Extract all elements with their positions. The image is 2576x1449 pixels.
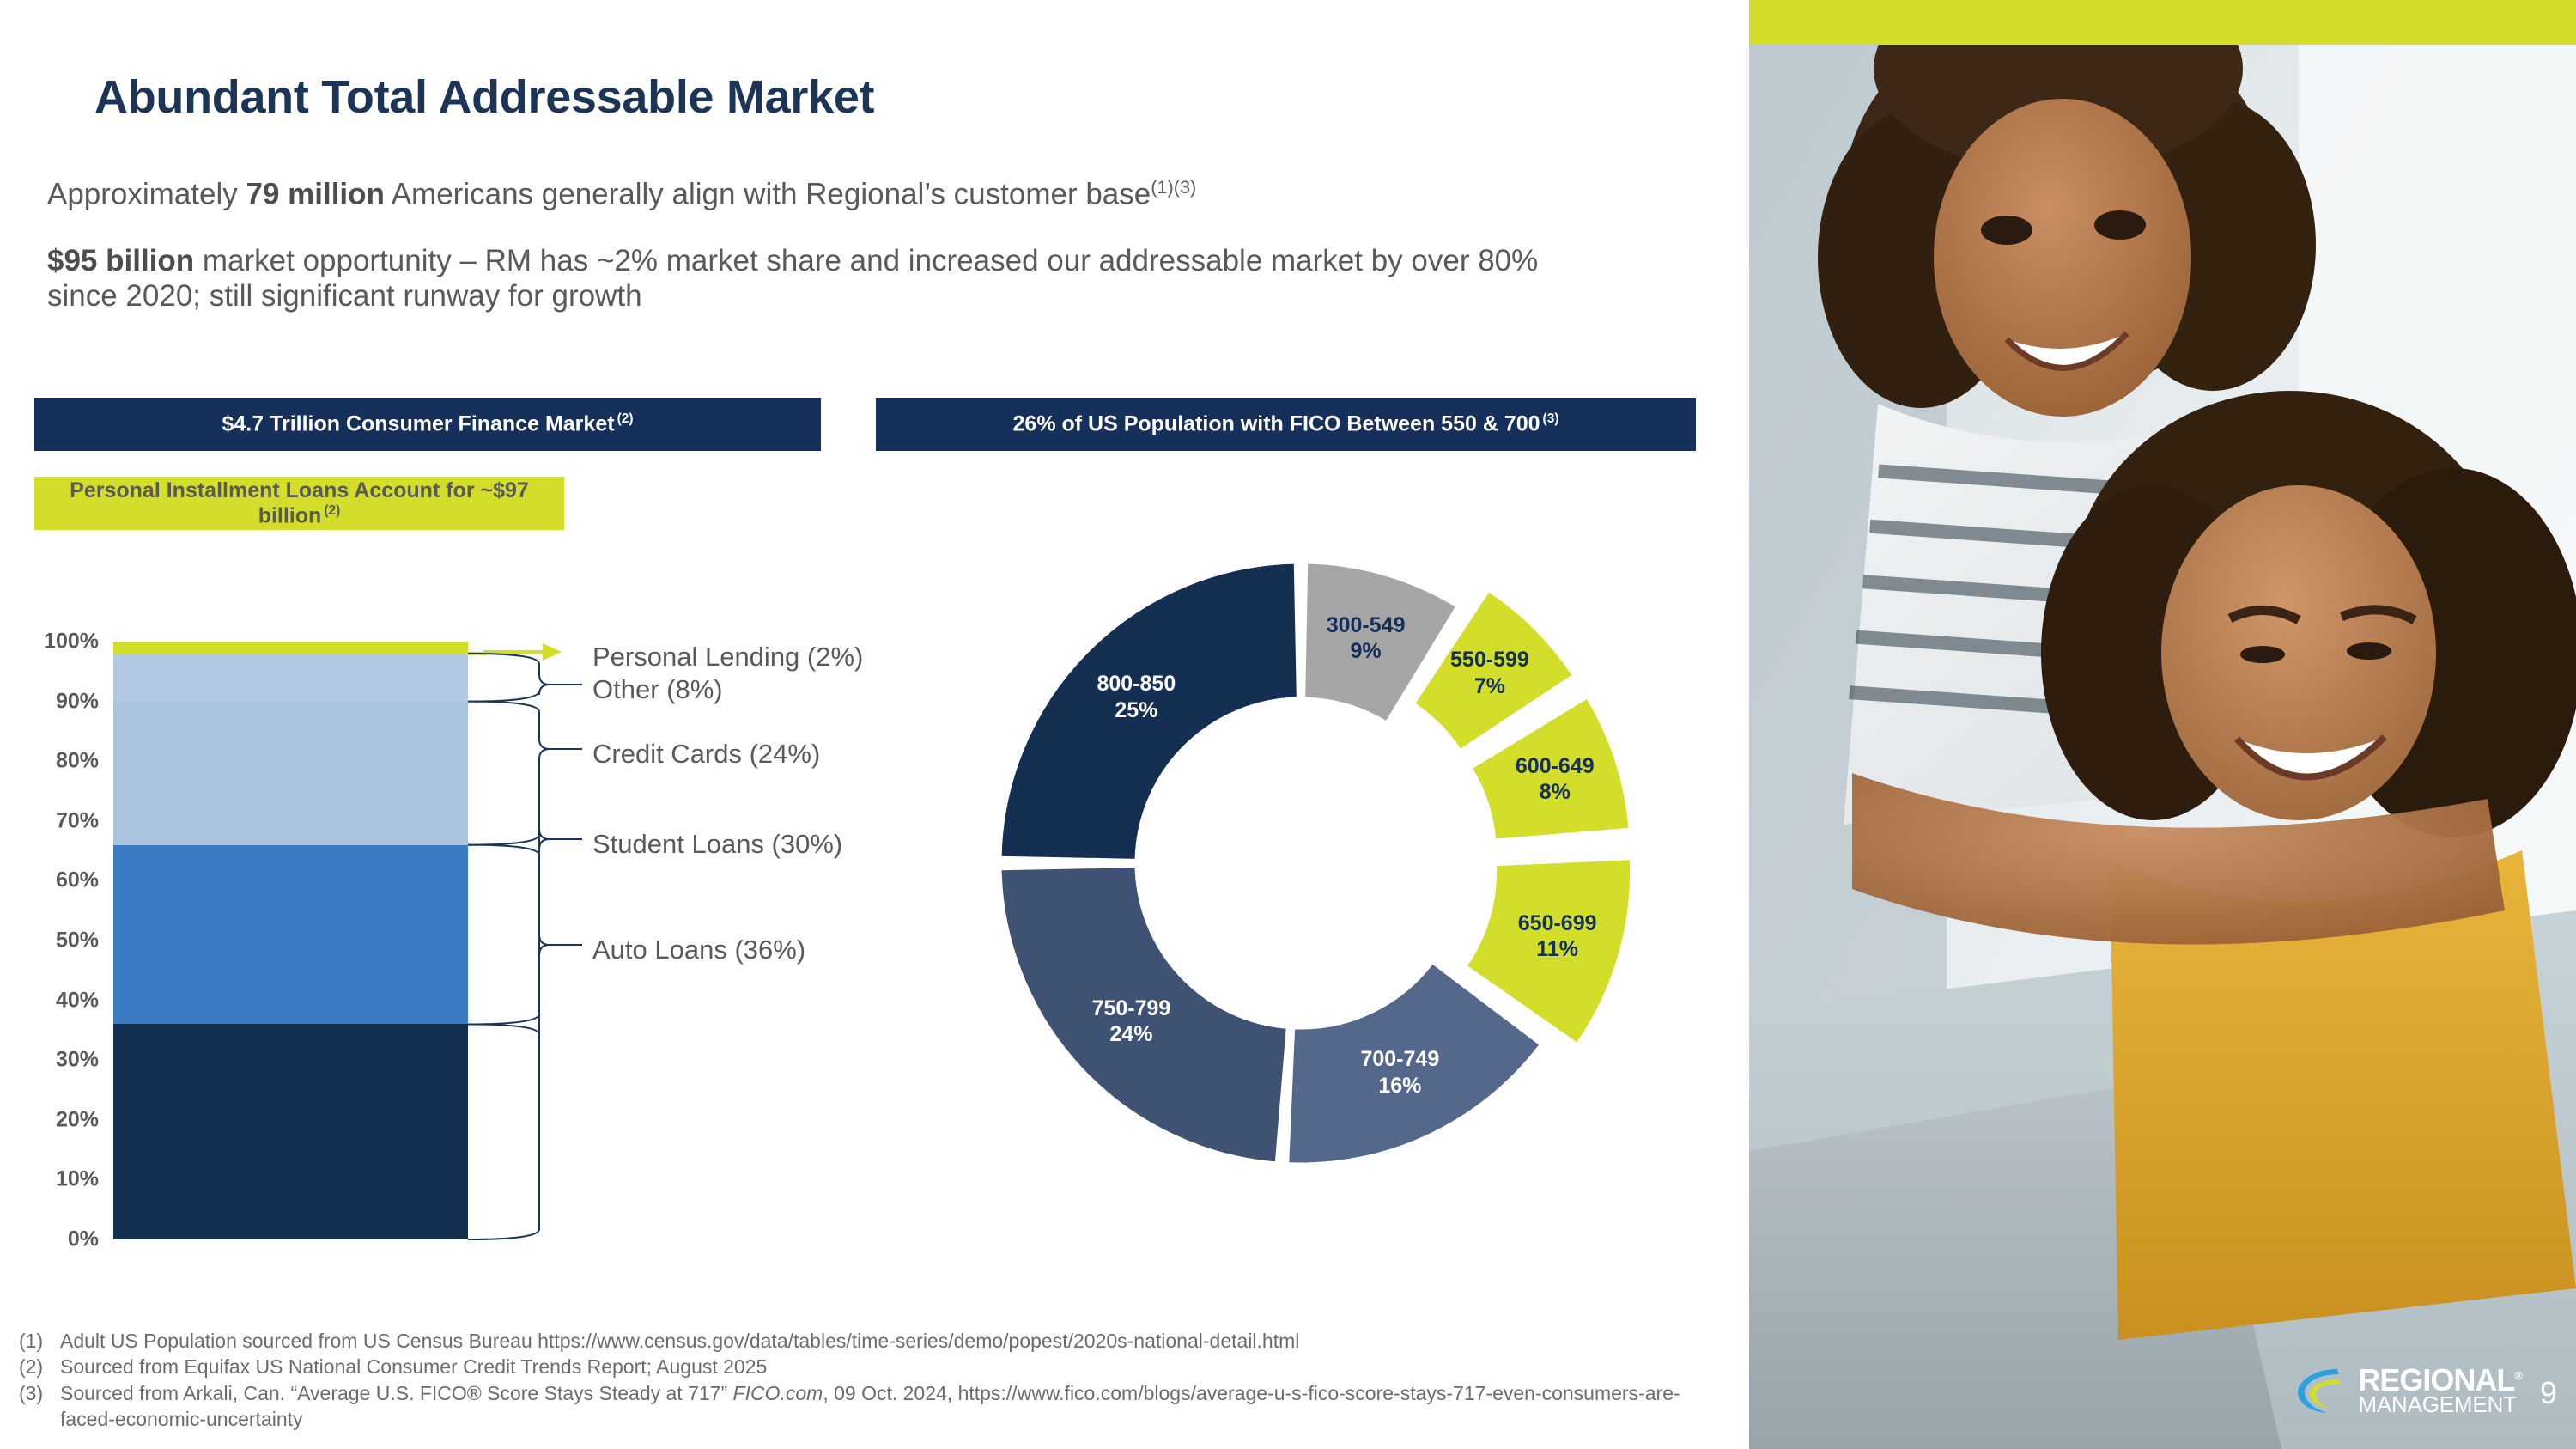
banner-fico: 26% of US Population with FICO Between 5… (876, 398, 1696, 451)
footnote-text: Adult US Population sourced from US Cens… (60, 1328, 1728, 1354)
donut-slice-value: 8% (1486, 779, 1624, 806)
logo-regional-text: REGIONAL® (2358, 1366, 2522, 1394)
subtitle-1-highlight: 79 million (246, 178, 384, 211)
bar-chart-y-axis: 100%90%80%70%60%50%40%30%20%10%0% (0, 642, 99, 1239)
footnote-number: (3) (19, 1380, 60, 1433)
bar-segment (113, 642, 468, 654)
mother-and-daughter-photo (1749, 0, 2576, 1449)
donut-slice-range: 700-749 (1331, 1046, 1468, 1073)
donut-slice-label: 600-6498% (1486, 753, 1624, 806)
bar-callout-label: Credit Cards (24%) (592, 739, 820, 770)
subtitle-2-highlight: $95 billion (47, 244, 194, 277)
footnote-source-name: FICO.com (733, 1382, 823, 1404)
callout-line (468, 935, 550, 1239)
subtitle-2-post: market opportunity – RM has ~2% market s… (47, 244, 1538, 313)
photo-panel: REGIONAL® MANAGEMENT 9 (1749, 0, 2576, 1449)
fico-donut-chart: 300-5499%550-5997%600-6498%650-69911%700… (970, 533, 1683, 1194)
bar-axis-tick: 50% (0, 928, 99, 953)
bar-axis-tick: 90% (0, 689, 99, 714)
bar-axis-tick: 100% (0, 630, 99, 654)
footnote-text: Sourced from Arkali, Can. “Average U.S. … (60, 1380, 1728, 1433)
callout-line (468, 652, 546, 654)
subtitle-1-post: Americans generally align with Regional’… (385, 178, 1151, 211)
bar-axis-tick: 60% (0, 868, 99, 893)
banner-finance-market: $4.7 Trillion Consumer Finance Market(2) (34, 398, 821, 451)
bar-axis-tick: 0% (0, 1227, 99, 1252)
donut-slice-label: 550-5997% (1421, 647, 1558, 699)
donut-slice-range: 750-799 (1062, 995, 1200, 1022)
bar-segment (113, 702, 468, 845)
donut-slice-value: 9% (1297, 638, 1435, 665)
callout-arrow-icon (543, 643, 562, 661)
donut-slice-label: 800-85025% (1067, 671, 1205, 723)
logo-management-text: MANAGEMENT (2358, 1395, 2522, 1416)
callout-line (468, 829, 550, 1024)
bar-axis-tick: 20% (0, 1107, 99, 1132)
donut-slice-value: 16% (1331, 1073, 1468, 1099)
footnote-number: (1) (19, 1328, 60, 1354)
donut-slice-value: 11% (1489, 936, 1626, 963)
callout-line (468, 702, 550, 845)
page-number: 9 (2540, 1375, 2557, 1411)
banner-installment: Personal Installment Loans Account for ~… (34, 477, 564, 530)
banner-fico-label: 26% of US Population with FICO Between 5… (1013, 412, 1540, 436)
banner-fico-superscript: (3) (1543, 411, 1559, 426)
banner-finance-market-superscript: (2) (617, 411, 634, 426)
banner-finance-market-label: $4.7 Trillion Consumer Finance Market (222, 412, 614, 436)
donut-slice-label: 700-74916% (1331, 1046, 1468, 1099)
subtitle-1-superscript: (1)(3) (1151, 176, 1196, 198)
stacked-bar-chart: 100%90%80%70%60%50%40%30%20%10%0% Person… (0, 593, 910, 1288)
donut-slice-label: 750-79924% (1062, 995, 1200, 1048)
donut-slice-value: 25% (1067, 697, 1205, 724)
bar-callout-label: Student Loans (30%) (592, 829, 842, 860)
donut-slice-label: 300-5499% (1297, 612, 1435, 665)
subtitle-line-1: Approximately 79 million Americans gener… (47, 176, 1730, 212)
bar-segment (113, 1024, 468, 1239)
slide-content-panel: Abundant Total Addressable Market Approx… (0, 0, 1749, 1449)
bar-segment (113, 654, 468, 702)
donut-slice-value: 7% (1421, 673, 1558, 700)
footnote-row: (2)Sourced from Equifax US National Cons… (19, 1354, 1728, 1379)
bar-axis-tick: 40% (0, 988, 99, 1013)
bar-segment (113, 845, 468, 1025)
bar-callout-label: Other (8%) (592, 674, 723, 705)
photo-accent-bar (1749, 0, 2576, 45)
page-title: Abundant Total Addressable Market (94, 70, 874, 124)
donut-slice-range: 650-699 (1489, 910, 1626, 937)
footnote-text: Sourced from Equifax US National Consume… (60, 1354, 1728, 1379)
bar-chart-stack (113, 642, 468, 1239)
donut-slice-range: 600-649 (1486, 753, 1624, 780)
donut-slice-value: 24% (1062, 1021, 1200, 1048)
logo-wordmark: REGIONAL® MANAGEMENT (2358, 1366, 2522, 1415)
logo-swoosh-icon (2294, 1364, 2351, 1417)
subtitle-line-2: $95 billion market opportunity – RM has … (47, 243, 1610, 314)
bar-axis-tick: 30% (0, 1048, 99, 1073)
bar-axis-tick: 70% (0, 808, 99, 833)
footnote-text-pre: Sourced from Arkali, Can. “Average U.S. … (60, 1382, 733, 1404)
bar-axis-tick: 10% (0, 1167, 99, 1192)
regional-management-logo: REGIONAL® MANAGEMENT (2294, 1364, 2522, 1417)
donut-slice-range: 800-850 (1067, 671, 1205, 697)
callout-line (468, 654, 550, 702)
subtitle-1-pre: Approximately (47, 178, 246, 211)
bar-axis-tick: 80% (0, 749, 99, 774)
footnotes: (1)Adult US Population sourced from US C… (19, 1328, 1728, 1432)
logo-registered-mark: ® (2514, 1369, 2522, 1382)
donut-slice-range: 550-599 (1421, 647, 1558, 673)
footnote-number: (2) (19, 1354, 60, 1379)
banner-installment-label: Personal Installment Loans Account for ~… (70, 478, 529, 527)
donut-slice-range: 300-549 (1297, 612, 1435, 639)
footnote-row: (3)Sourced from Arkali, Can. “Average U.… (19, 1380, 1728, 1433)
banner-installment-superscript: (2) (324, 503, 340, 518)
donut-slice-label: 650-69911% (1489, 910, 1626, 963)
bar-callout-label: Personal Lending (2%) (592, 642, 863, 673)
bar-callout-label: Auto Loans (36%) (592, 935, 805, 965)
footnote-row: (1)Adult US Population sourced from US C… (19, 1328, 1728, 1354)
